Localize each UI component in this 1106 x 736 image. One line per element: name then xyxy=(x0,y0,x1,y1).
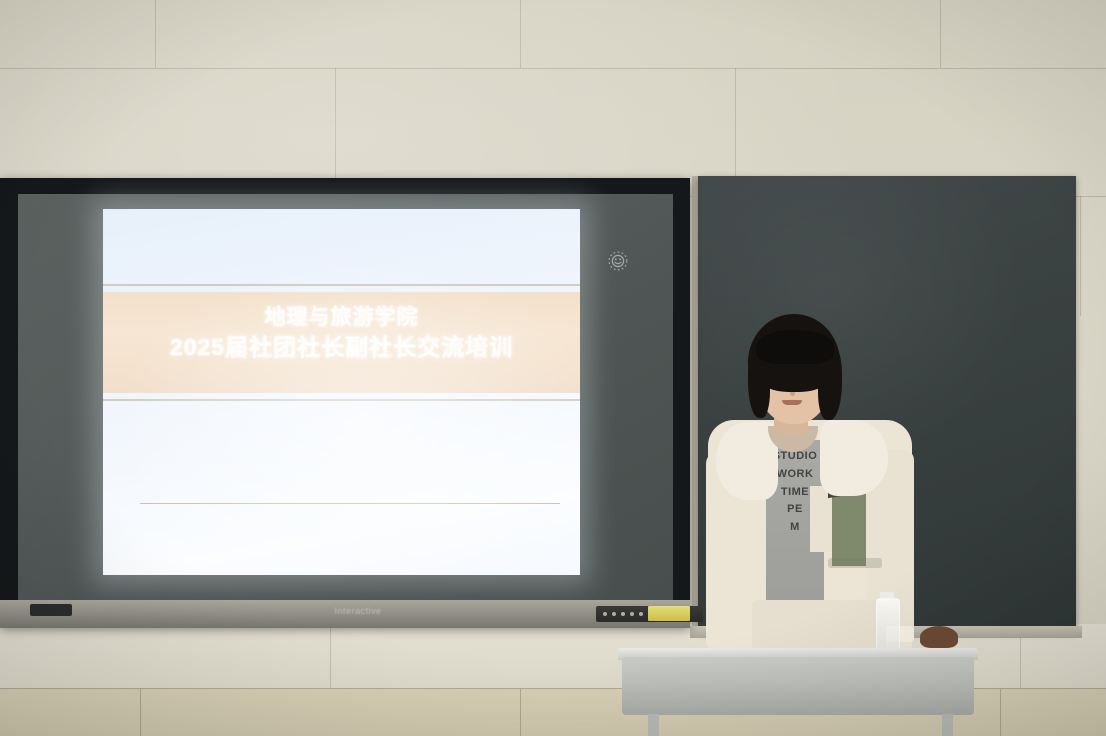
classroom-scene: 地理与旅游学院 2025届社团社长副社长交流培训 Interactive STU… xyxy=(0,0,1106,736)
wall-seam-vertical xyxy=(335,68,336,196)
jacket-hood-right xyxy=(820,420,888,496)
control-dot-icon[interactable] xyxy=(603,612,607,616)
lectern-leg xyxy=(942,714,953,736)
control-dot-icon[interactable] xyxy=(612,612,616,616)
wainscot-seam xyxy=(1000,689,1001,736)
smiley-face-icon[interactable] xyxy=(605,248,631,274)
lectern xyxy=(622,657,974,715)
display-control-sticker xyxy=(648,606,690,621)
slide-title-line-1: 地理与旅游学院 xyxy=(103,304,580,332)
wainscot-seam xyxy=(140,689,141,736)
control-dot-icon[interactable] xyxy=(621,612,625,616)
wall-seam-vertical xyxy=(1080,196,1081,316)
water-bottle xyxy=(876,598,900,652)
jacket-pocket xyxy=(828,558,882,568)
wall-seam-vertical xyxy=(520,0,521,68)
presenter-mouth xyxy=(782,400,802,405)
display-stand-foot xyxy=(30,604,72,616)
slide-title-line-2: 2025届社团社长副社长交流培训 xyxy=(103,332,580,362)
seated-person-head xyxy=(920,626,958,648)
wainscot-seam xyxy=(520,689,521,736)
wall-seam-horizontal xyxy=(0,68,1106,69)
wall-seam-vertical xyxy=(155,0,156,68)
lectern-leg xyxy=(648,714,659,736)
control-dot-icon[interactable] xyxy=(630,612,634,616)
slide-rule-bottom xyxy=(103,399,580,401)
display-brand-label: Interactive xyxy=(312,605,404,618)
wall-seam-vertical xyxy=(940,0,941,68)
presenter-hair-fringe xyxy=(756,330,834,364)
slide-rule-top xyxy=(103,284,580,286)
slide-rule-thin xyxy=(140,503,560,504)
control-dot-icon[interactable] xyxy=(639,612,643,616)
presentation-slide[interactable]: 地理与旅游学院 2025届社团社长副社长交流培训 xyxy=(103,209,580,575)
slide-title: 地理与旅游学院 2025届社团社长副社长交流培训 xyxy=(103,304,580,362)
wall-seam-vertical xyxy=(330,624,331,690)
